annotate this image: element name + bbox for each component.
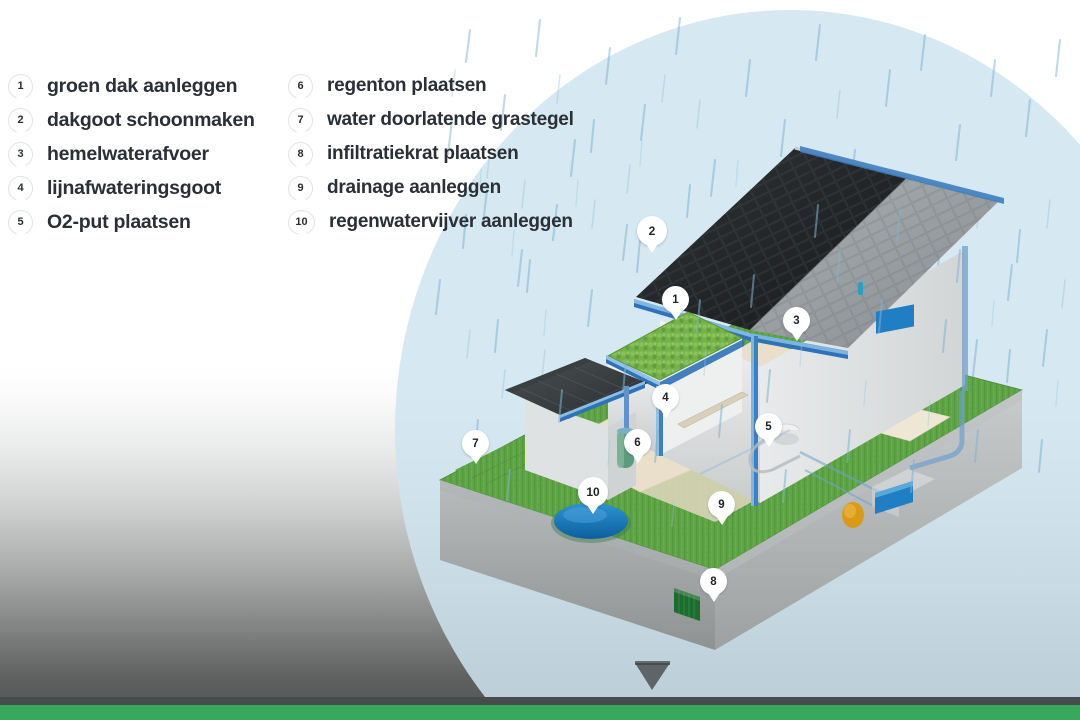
legend-badge-3: 3 [8,142,33,167]
legend-badge-6: 6 [288,74,313,99]
bottom-dark-strip [0,697,1080,705]
legend-label-1: groen dak aanleggen [47,75,237,98]
legend-label-5: O2-put plaatsen [47,211,191,234]
legend-label-6: regenton plaatsen [327,75,486,97]
legend-badge-5: 5 [8,210,33,235]
legend-label-10: regenwatervijver aanleggen [329,211,573,233]
legend-badge-1: 1 [8,74,33,99]
legend-badge-4: 4 [8,176,33,201]
illustration-marker-9[interactable]: 9 [708,491,735,518]
legend-label-9: drainage aanleggen [327,177,501,199]
illustration-marker-1[interactable]: 1 [662,286,689,313]
legend-item-4[interactable]: 4 lijnafwateringsgoot [8,172,288,204]
legend-label-2: dakgoot schoonmaken [47,109,255,132]
legend-label-7: water doorlatende grastegel [327,109,574,131]
legend-item-2[interactable]: 2 dakgoot schoonmaken [8,104,288,136]
illustration-marker-6[interactable]: 6 [624,429,651,456]
illustration-marker-4[interactable]: 4 [652,384,679,411]
legend-column-right: 6 regenton plaatsen 7 water doorlatende … [288,70,618,240]
legend-label-4: lijnafwateringsgoot [47,177,221,200]
legend-item-5[interactable]: 5 O2-put plaatsen [8,206,288,238]
legend-label-3: hemelwaterafvoer [47,143,209,166]
legend-item-8[interactable]: 8 infiltratiekrat plaatsen [288,138,618,170]
legend-item-10[interactable]: 10 regenwatervijver aanleggen [288,206,618,238]
legend-column-left: 1 groen dak aanleggen 2 dakgoot schoonma… [8,70,288,240]
bottom-green-bar [0,705,1080,720]
legend-badge-10: 10 [288,210,315,235]
legend-item-6[interactable]: 6 regenton plaatsen [288,70,618,102]
illustration-marker-5[interactable]: 5 [755,413,782,440]
illustration-marker-2[interactable]: 2 [637,216,667,246]
legend-badge-8: 8 [288,142,313,167]
legend-label-8: infiltratiekrat plaatsen [327,143,518,165]
legend-badge-9: 9 [288,176,313,201]
illustration-marker-7[interactable]: 7 [462,430,489,457]
legend-item-1[interactable]: 1 groen dak aanleggen [8,70,288,102]
illustration-marker-3[interactable]: 3 [783,307,810,334]
illustration-marker-8[interactable]: 8 [700,568,727,595]
legend: 1 groen dak aanleggen 2 dakgoot schoonma… [0,70,620,255]
legend-badge-2: 2 [8,108,33,133]
illustration-marker-10[interactable]: 10 [578,477,608,507]
legend-item-3[interactable]: 3 hemelwaterafvoer [8,138,288,170]
legend-item-7[interactable]: 7 water doorlatende grastegel [288,104,618,136]
legend-badge-7: 7 [288,108,313,133]
legend-item-9[interactable]: 9 drainage aanleggen [288,172,618,204]
